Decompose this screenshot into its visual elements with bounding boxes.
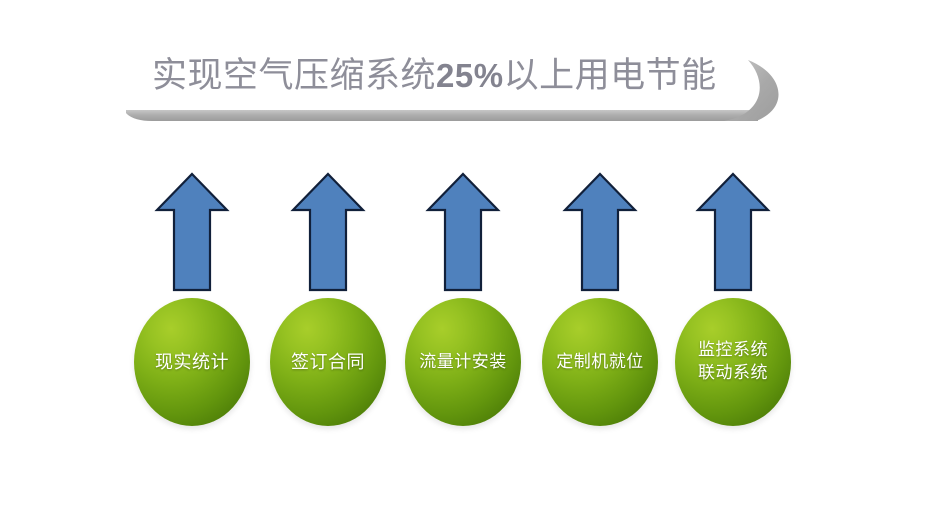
arrow-up-icon-4 — [562, 171, 638, 293]
step-label-2: 签订合同 — [291, 351, 365, 374]
arrow-up-icon-1 — [154, 171, 230, 293]
step-sphere-3[interactable]: 流量计安装 — [405, 298, 521, 426]
title-prefix: 实现空气压缩系统 — [152, 56, 436, 96]
step-sphere-2[interactable]: 签订合同 — [270, 298, 386, 426]
arrow-up-icon-2 — [290, 171, 366, 293]
step-label-1: 现实统计 — [155, 351, 229, 374]
arrow-up-icon-3 — [425, 171, 501, 293]
arrow-up-icon-5 — [695, 171, 771, 293]
step-sphere-4[interactable]: 定制机就位 — [542, 298, 658, 426]
banner-bar — [126, 110, 758, 121]
step-label-3: 流量计安装 — [419, 351, 507, 374]
step-label-5: 监控系统 联动系统 — [698, 339, 768, 385]
slide-canvas: 实现空气压缩系统25%以上用电节能 现实统计 签订合同 流量计安装 定制机就位 … — [0, 0, 945, 529]
title-suffix: 以上用电节能 — [504, 56, 717, 96]
step-sphere-5[interactable]: 监控系统 联动系统 — [675, 298, 791, 426]
title-banner: 实现空气压缩系统25%以上用电节能 — [0, 0, 945, 150]
page-title: 实现空气压缩系统25%以上用电节能 — [152, 48, 732, 104]
title-percent: 25% — [436, 57, 504, 94]
step-sphere-1[interactable]: 现实统计 — [134, 298, 250, 426]
step-label-4: 定制机就位 — [556, 351, 644, 374]
